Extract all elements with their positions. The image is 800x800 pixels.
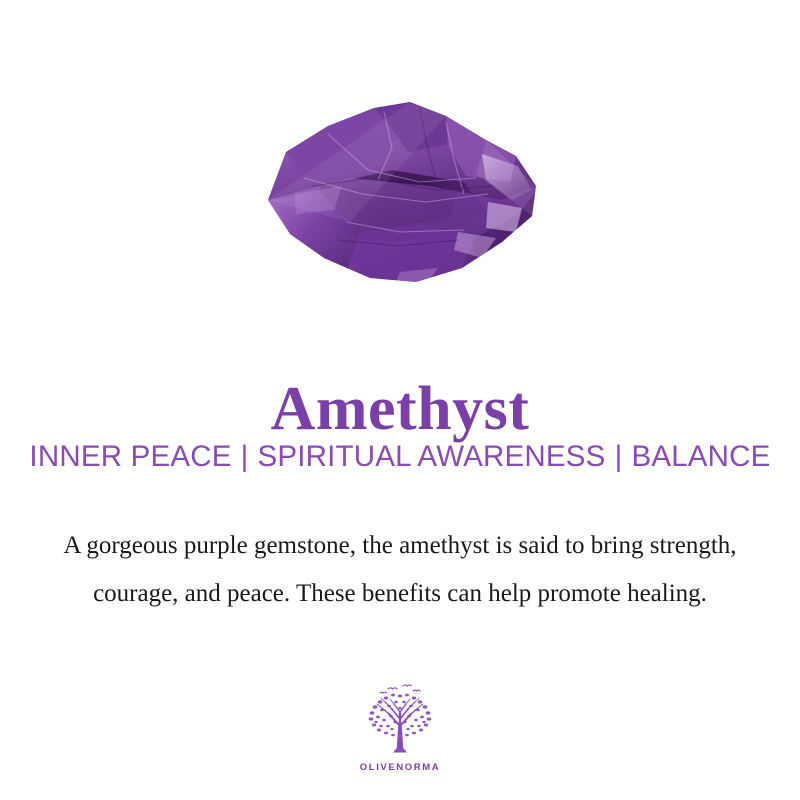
amethyst-info-card: Amethyst INNER PEACE|SPIRITUAL AWARENESS… bbox=[0, 0, 800, 800]
brand-logo: OLIVENORMA bbox=[0, 682, 800, 773]
keyword-inner-peace: INNER PEACE bbox=[29, 440, 231, 473]
keyword-separator: | bbox=[606, 440, 632, 474]
keyword-separator: | bbox=[232, 440, 258, 474]
page-title: Amethyst bbox=[0, 378, 800, 440]
amethyst-crystal-icon bbox=[250, 82, 550, 298]
keyword-balance: BALANCE bbox=[631, 440, 770, 473]
tree-of-life-icon bbox=[358, 682, 442, 760]
brand-wordmark: OLIVENORMA bbox=[360, 762, 440, 773]
description-text: A gorgeous purple gemstone, the amethyst… bbox=[55, 522, 745, 618]
hero-image-container bbox=[0, 78, 800, 302]
keyword-row: INNER PEACE|SPIRITUAL AWARENESS|BALANCE bbox=[0, 440, 800, 474]
keyword-spiritual-awareness: SPIRITUAL AWARENESS bbox=[258, 440, 606, 473]
